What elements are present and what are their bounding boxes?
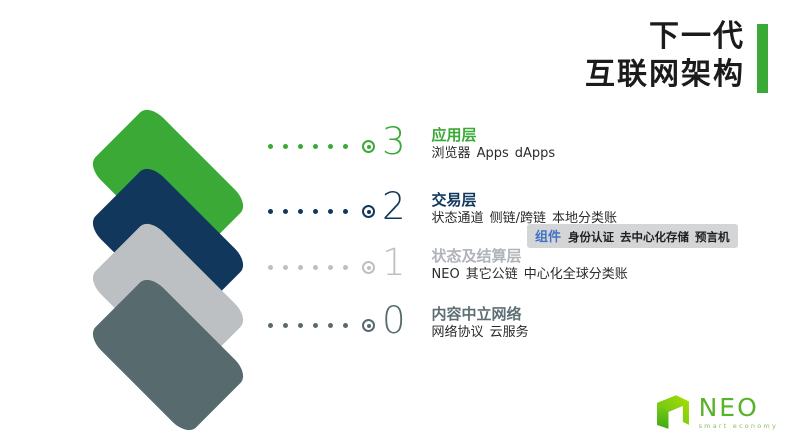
layer-1-target-icon [362,261,375,274]
layer-3-target-icon [362,140,375,153]
connector-dot [268,209,273,214]
layer-row-2: 2 交易层 状态通道侧链/跨链本地分类账 [268,191,617,227]
connector-dot [328,265,333,270]
connector-dot [283,209,288,214]
layer-2-connector-dots [268,191,375,218]
connector-dot [328,144,333,149]
layer-0-heading: 内容中立网络 [432,305,529,323]
connector-dot [343,323,348,328]
title-accent-bar [757,24,768,93]
layer-3-texts: 应用层 浏览器AppsdApps [432,126,556,162]
neo-logo-text: NEO [699,395,778,420]
connector-dot [298,209,303,214]
neo-logo-mark-icon [654,393,692,431]
layer-0-connector-dots [268,305,375,332]
connector-dot [268,265,273,270]
connector-dot [283,265,288,270]
layer-1-connector-dots [268,247,375,274]
layer-row-1: 1 状态及结算层 NEO其它公链中心化全球分类账 [268,247,628,283]
layer-0-texts: 内容中立网络 网络协议云服务 [432,305,529,341]
connector-dot [313,144,318,149]
connector-dot [268,323,273,328]
component-badge-items: 身份认证去中心化存储预言机 [568,229,730,245]
slide-title-line-2: 互联网架构 [585,56,745,94]
connector-dot [328,323,333,328]
connector-dot [343,209,348,214]
layer-1-texts: 状态及结算层 NEO其它公链中心化全球分类账 [432,247,628,283]
connector-dot [343,144,348,149]
layer-0-number: 0 [382,302,406,339]
connector-dot [268,144,273,149]
layer-3-detail: 浏览器AppsdApps [432,146,556,162]
slide-title-lines: 下一代 互联网架构 [585,18,745,95]
layer-1-heading: 状态及结算层 [432,247,628,265]
layer-row-3: 3 应用层 浏览器AppsdApps [268,126,555,162]
layer-stack-graphic [55,118,280,368]
connector-dot [313,323,318,328]
connector-dot [343,265,348,270]
neo-logo-wordmark: NEO smart economy [699,395,778,430]
layer-3-connector-dots [268,126,375,153]
layer-3-heading: 应用层 [432,126,556,144]
layer-2-target-icon [362,205,375,218]
layer-1-detail: NEO其它公链中心化全球分类账 [432,267,628,283]
slide-title-line-1: 下一代 [649,18,745,56]
connector-dot [283,323,288,328]
layer-0-target-icon [362,319,375,332]
layer-2-number: 2 [382,188,406,225]
connector-dot [328,209,333,214]
neo-logo: NEO smart economy [654,393,778,431]
neo-logo-tagline: smart economy [699,422,778,430]
connector-dot [298,265,303,270]
layer-0-detail: 网络协议云服务 [432,325,529,341]
connector-dot [298,323,303,328]
component-badge-label: 组件 [535,226,561,245]
component-badge: 组件 身份认证去中心化存储预言机 [527,224,738,248]
layer-3-number: 3 [382,123,406,160]
connector-dot [313,265,318,270]
layer-row-0: 0 内容中立网络 网络协议云服务 [268,305,529,341]
layer-1-number: 1 [382,244,406,281]
connector-dot [283,144,288,149]
connector-dot [298,144,303,149]
connector-dot [313,209,318,214]
slide-title-block: 下一代 互联网架构 [585,18,768,95]
layer-2-heading: 交易层 [432,191,617,209]
layer-2-texts: 交易层 状态通道侧链/跨链本地分类账 [432,191,617,227]
